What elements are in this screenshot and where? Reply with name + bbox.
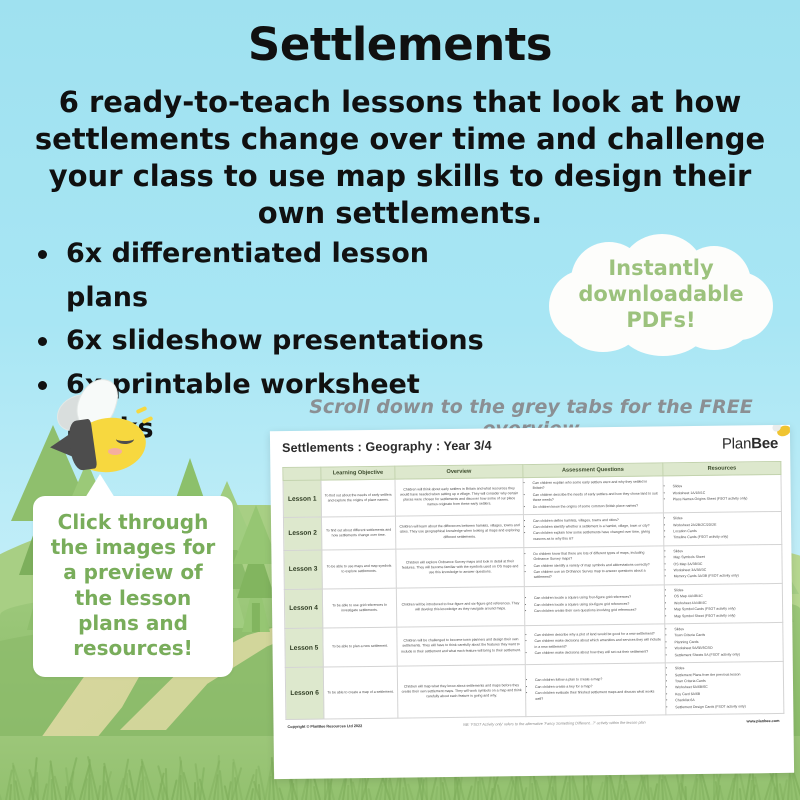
lesson-plan-table: Learning Objective Overview Assessment Q… — [282, 461, 784, 720]
grass-blade — [194, 782, 196, 800]
page-subtitle: 6 ready-to-teach lessons that look at ho… — [18, 84, 782, 232]
list-item: Can children make decisions about which … — [534, 638, 661, 650]
learning-objective-cell: To be able to plan a new settlement. — [323, 627, 397, 667]
list-item: Place Names Origins Sheet (FSOT activity… — [673, 496, 778, 503]
footer-url: www.planbee.com — [746, 719, 779, 723]
assessment-questions-cell: Can children explain who some early sett… — [523, 476, 663, 515]
lesson-number-cell: Lesson 2 — [283, 517, 321, 550]
lesson-number-cell: Lesson 4 — [284, 589, 322, 629]
table-row: Lesson 4To be able to use grid reference… — [284, 583, 782, 628]
bee-eye — [116, 434, 134, 444]
list-item: Can children use an Ordnance Survey map … — [534, 568, 661, 580]
document-footer: Copyright © PlanBee Resources Ltd 2022 N… — [285, 719, 781, 729]
lesson-number-cell: Lesson 6 — [285, 667, 324, 719]
lesson-number-cell: Lesson 3 — [284, 550, 322, 590]
column-header-learning-objective: Learning Objective — [321, 466, 395, 480]
planbee-logo: PlanBee — [722, 435, 778, 453]
click-through-callout[interactable]: Click through the images for a preview o… — [33, 496, 233, 677]
overview-cell: Children will be introduced to four-figu… — [396, 586, 524, 627]
grass-blade — [736, 773, 738, 800]
resources-cell: SlidesWorksheet 1A/1B/1CPlace Names Orig… — [663, 474, 781, 513]
lesson-plan-body: Lesson 1To find out about the needs of e… — [283, 474, 784, 719]
cloud-badge-line2: downloadable — [578, 281, 743, 307]
grass-blade — [97, 785, 101, 800]
list-item: Can children explain who some early sett… — [533, 479, 660, 491]
grass-blade — [491, 788, 493, 800]
tree-trunk — [252, 603, 260, 632]
grass-blade — [324, 778, 326, 800]
lesson-overview-document[interactable]: Settlements : Geography : Year 3/4 PlanB… — [270, 425, 794, 779]
list-item: Memory Cards 3A/3B (FSOT activity only) — [674, 573, 779, 580]
grass-blade — [65, 786, 67, 800]
grass-blade — [9, 784, 12, 800]
list-item: Can children explain how some settlement… — [533, 530, 660, 542]
grass-blade — [347, 785, 349, 800]
learning-objective-cell: To find out about the needs of early set… — [321, 479, 395, 517]
bee-cheek — [108, 448, 122, 455]
table-row: Lesson 6To be able to create a map of a … — [285, 662, 784, 720]
assessment-questions-cell: Can children define hamlets, villages, t… — [523, 513, 663, 547]
grass-blade — [368, 788, 372, 800]
learning-objective-cell: To be able to use maps and map symbols t… — [322, 549, 396, 589]
bee-sparkle — [136, 406, 148, 414]
table-row: Lesson 3To be able to use maps and map s… — [284, 544, 782, 589]
list-item: Timeline Cards (FSOT activity only) — [673, 534, 778, 541]
learning-objective-cell: To find out about different settlements … — [321, 516, 395, 550]
list-item: 6x slideshow presentations — [28, 319, 498, 363]
poster-canvas: Settlements 6 ready-to-teach lessons tha… — [0, 0, 800, 800]
page-title: Settlements — [0, 18, 800, 71]
lesson-number-cell: Lesson 5 — [285, 628, 323, 668]
brand-bold: Bee — [751, 435, 778, 452]
list-item: Can children describe the needs of early… — [533, 491, 660, 503]
table-row: Lesson 1To find out about the needs of e… — [283, 474, 781, 517]
overview-cell: Children will be challenged to become to… — [397, 626, 525, 667]
resources-cell: SlidesSettlement Plans from the previous… — [665, 662, 784, 715]
list-item: Map Symbol Sheet (FSOT activity only) — [674, 613, 779, 620]
footer-copyright: Copyright © PlanBee Resources Ltd 2022 — [287, 724, 362, 729]
overview-cell: Children will explore Ordnance Survey ma… — [396, 547, 524, 588]
resources-cell: SlidesOS Map 4A/4B/4CWorksheet 4A/4B/4CM… — [664, 583, 782, 624]
footer-note: NB: 'FSOT Activity only' refers to the a… — [463, 721, 646, 727]
list-item: Can children evaluate their finished set… — [535, 690, 662, 702]
grass-blade — [0, 788, 2, 800]
column-header-lesson — [283, 467, 321, 480]
document-title: Settlements : Geography : Year 3/4 — [282, 438, 492, 455]
grass-blade — [523, 787, 527, 800]
learning-objective-cell: To be able to use grid references to inv… — [322, 588, 396, 628]
list-item: Do children know that there are lots of … — [533, 550, 660, 562]
overview-cell: Children will map what they know about s… — [397, 665, 526, 719]
list-item: Can children make decisions about how th… — [535, 649, 662, 656]
list-item: Can children create their own questions … — [534, 608, 661, 615]
resources-cell: SlidesTown Criteria CardsPlanning CardsW… — [665, 622, 783, 663]
cloud-badge-text: Instantly downloadable PDFs! — [545, 232, 777, 356]
logo-bee-icon — [776, 425, 793, 438]
brand-light: Plan — [722, 435, 751, 452]
assessment-questions-cell: Can children describe why a plot of land… — [525, 624, 665, 665]
learning-objective-cell: To be able to create a map of a settleme… — [323, 666, 398, 719]
list-item: Do children know the origins of some com… — [533, 503, 660, 510]
bee-mascot-icon — [30, 382, 150, 482]
cloud-badge-line1: Instantly — [608, 255, 713, 281]
list-item: 6x differentiated lesson plans — [28, 232, 498, 319]
assessment-questions-cell: Can children locate a square using four-… — [524, 585, 664, 626]
cloud-badge-line3: PDFs! — [626, 307, 695, 333]
resources-cell: SlidesMap Symbols SheetOS Map 3A/3B/3CWo… — [664, 544, 782, 585]
resources-cell: SlidesWorksheet 2A/2B/2C/2D/2ELocation C… — [663, 512, 781, 546]
downloadable-cloud-badge: Instantly downloadable PDFs! — [545, 232, 777, 356]
table-row: Lesson 5To be able to plan a new settlem… — [285, 622, 783, 667]
list-item: Settlement Design Cards (FSOT activity o… — [675, 704, 780, 711]
lesson-number-cell: Lesson 1 — [283, 480, 321, 518]
assessment-questions-cell: Do children know that there are lots of … — [524, 546, 664, 587]
overview-cell: Children will think about early settlers… — [395, 478, 523, 517]
overview-cell: Children will learn about the difference… — [395, 515, 523, 549]
grass-blade — [435, 786, 438, 800]
list-item: Settlement Sheets 5A (FSOT activity only… — [675, 652, 780, 659]
assessment-questions-cell: Can children follow a plan to create a m… — [525, 663, 666, 717]
grass-blade — [496, 784, 501, 800]
